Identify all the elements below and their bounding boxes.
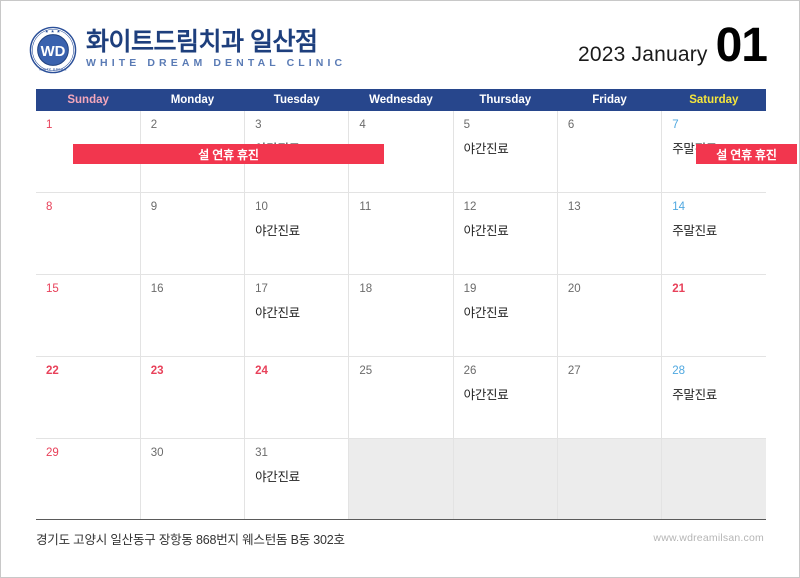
calendar-cell-day-29[interactable]: 29	[36, 439, 140, 521]
calendar-cell-day-27[interactable]: 27	[557, 357, 661, 439]
brand-name-english: WHITE DREAM DENTAL CLINIC	[86, 57, 346, 71]
calendar-cell-day-15[interactable]: 15	[36, 275, 140, 357]
calendar-grid: Sunday Monday Tuesday Wednesday Thursday…	[36, 89, 766, 520]
day-number: 28	[672, 365, 766, 378]
calendar-cell-inner: 3야간진료	[245, 111, 348, 192]
calendar-cell-inner: 4	[349, 111, 452, 192]
calendar-cell-day-1[interactable]: 1	[36, 111, 140, 193]
calendar-cell-inner: 27	[558, 357, 661, 438]
calendar-cell-inner: 13	[558, 193, 661, 274]
day-event-label: 주말진료	[672, 220, 766, 239]
calendar-cell-day-21[interactable]: 21	[662, 275, 766, 357]
calendar-cell-day-28[interactable]: 28주말진료	[662, 357, 766, 439]
calendar-cell-inner: 1	[36, 111, 140, 192]
calendar-cell-inner	[349, 439, 452, 520]
wd-seal-logo-icon: WD ★ ★ ★ WHITE DREAM	[29, 26, 77, 74]
calendar-cell-day-9[interactable]: 9	[140, 193, 244, 275]
calendar-cell-inner: 23	[141, 357, 244, 438]
calendar-cell-inner: 10야간진료	[245, 193, 348, 274]
calendar-cell-day-26[interactable]: 26야간진료	[453, 357, 557, 439]
day-number: 31	[255, 447, 348, 460]
calendar-cell-day-16[interactable]: 16	[140, 275, 244, 357]
calendar-cell-day-19[interactable]: 19야간진료	[453, 275, 557, 357]
calendar-cell-inner: 8	[36, 193, 140, 274]
day-number: 23	[151, 365, 244, 378]
day-number: 13	[568, 201, 661, 214]
calendar-cell-empty	[662, 439, 766, 521]
calendar-cell-inner: 7주말진료	[662, 111, 766, 192]
calendar-cell-inner: 19야간진료	[454, 275, 557, 356]
calendar-cell-day-6[interactable]: 6	[557, 111, 661, 193]
svg-text:WD: WD	[41, 44, 66, 60]
day-event-label: 야간진료	[464, 220, 557, 239]
day-number: 17	[255, 283, 348, 296]
calendar-cell-day-13[interactable]: 13	[557, 193, 661, 275]
day-number: 19	[464, 283, 557, 296]
weekday-row: Sunday Monday Tuesday Wednesday Thursday…	[36, 89, 766, 111]
day-number: 22	[46, 365, 140, 378]
footer-divider	[36, 519, 766, 520]
calendar-cell-day-3[interactable]: 3야간진료	[245, 111, 349, 193]
day-number: 24	[255, 365, 348, 378]
day-number: 1	[46, 119, 140, 132]
day-number: 20	[568, 283, 661, 296]
clinic-address: 경기도 고양시 일산동구 장항동 868번지 웨스턴돔 B동 302호	[36, 529, 345, 548]
calendar-cell-inner: 24	[245, 357, 348, 438]
calendar-cell-inner: 11	[349, 193, 452, 274]
day-event-label: 야간진료	[464, 138, 557, 157]
calendar-cell-inner	[558, 439, 661, 520]
calendar-cell-inner: 22	[36, 357, 140, 438]
calendar-cell-day-18[interactable]: 18	[349, 275, 453, 357]
svg-text:WHITE DREAM: WHITE DREAM	[39, 68, 67, 72]
calendar-cell-day-30[interactable]: 30	[140, 439, 244, 521]
calendar-cell-inner: 18	[349, 275, 452, 356]
calendar-cell-inner: 28주말진료	[662, 357, 766, 438]
calendar-cell-day-5[interactable]: 5야간진료	[453, 111, 557, 193]
day-number: 12	[464, 201, 557, 214]
calendar-cell-inner: 6	[558, 111, 661, 192]
calendar-body: 123야간진료45야간진료67주말진료8910야간진료1112야간진료1314주…	[36, 111, 766, 520]
weekday-sunday: Sunday	[36, 89, 140, 111]
calendar-cell-day-23[interactable]: 23	[140, 357, 244, 439]
day-number: 18	[359, 283, 452, 296]
day-number: 29	[46, 447, 140, 460]
calendar-cell-day-31[interactable]: 31야간진료	[245, 439, 349, 521]
day-number: 30	[151, 447, 244, 460]
calendar-cell-empty	[349, 439, 453, 521]
day-number: 8	[46, 201, 140, 214]
day-number: 27	[568, 365, 661, 378]
clinic-website: www.wdreamilsan.com	[653, 532, 764, 544]
day-event-label: 야간진료	[255, 466, 348, 485]
calendar-cell-day-4[interactable]: 4	[349, 111, 453, 193]
brand-name-korean: 화이트드림치과 일산점	[86, 29, 346, 55]
calendar-cell-day-20[interactable]: 20	[557, 275, 661, 357]
calendar-cell-empty	[453, 439, 557, 521]
calendar-cell-day-11[interactable]: 11	[349, 193, 453, 275]
calendar-cell-inner: 5야간진료	[454, 111, 557, 192]
calendar-cell-inner	[454, 439, 557, 520]
day-event-label: 주말진료	[672, 384, 766, 403]
calendar-cell-inner: 12야간진료	[454, 193, 557, 274]
day-number: 16	[151, 283, 244, 296]
brand-text: 화이트드림치과 일산점 WHITE DREAM DENTAL CLINIC	[86, 29, 346, 71]
calendar-cell-day-2[interactable]: 2	[140, 111, 244, 193]
calendar-cell-day-25[interactable]: 25	[349, 357, 453, 439]
calendar-cell-empty	[557, 439, 661, 521]
day-number: 2	[151, 119, 244, 132]
day-number: 11	[359, 201, 452, 214]
calendar-week-row: 2223242526야간진료2728주말진료	[36, 357, 766, 439]
weekday-tuesday: Tuesday	[245, 89, 349, 111]
calendar-cell-inner	[662, 439, 766, 520]
calendar-cell-inner: 17야간진료	[245, 275, 348, 356]
svg-text:★ ★ ★: ★ ★ ★	[44, 30, 61, 34]
weekday-wednesday: Wednesday	[349, 89, 453, 111]
day-number: 4	[359, 119, 452, 132]
calendar-cell-inner: 16	[141, 275, 244, 356]
calendar-cell-day-10[interactable]: 10야간진료	[245, 193, 349, 275]
day-number: 15	[46, 283, 140, 296]
calendar-weekday-header: Sunday Monday Tuesday Wednesday Thursday…	[36, 89, 766, 111]
weekday-monday: Monday	[140, 89, 244, 111]
day-number: 10	[255, 201, 348, 214]
page-header: WD ★ ★ ★ WHITE DREAM 화이트드림치과 일산점 WHITE D…	[1, 1, 800, 89]
weekday-thursday: Thursday	[453, 89, 557, 111]
calendar-week-row: 151617야간진료1819야간진료2021	[36, 275, 766, 357]
calendar-page: WD ★ ★ ★ WHITE DREAM 화이트드림치과 일산점 WHITE D…	[0, 0, 800, 578]
day-event-label: 주말진료	[672, 138, 766, 157]
calendar-cell-inner: 31야간진료	[245, 439, 348, 520]
calendar-cell-inner: 29	[36, 439, 140, 520]
calendar-cell-day-14[interactable]: 14주말진료	[662, 193, 766, 275]
calendar-cell-inner: 30	[141, 439, 244, 520]
day-number: 6	[568, 119, 661, 132]
weekday-friday: Friday	[557, 89, 661, 111]
day-event-label: 야간진료	[464, 302, 557, 321]
calendar-cell-inner: 25	[349, 357, 452, 438]
day-event-label: 야간진료	[255, 302, 348, 321]
calendar-cell-inner: 2	[141, 111, 244, 192]
calendar-cell-day-22[interactable]: 22	[36, 357, 140, 439]
calendar-cell-inner: 15	[36, 275, 140, 356]
calendar-cell-day-8[interactable]: 8	[36, 193, 140, 275]
day-number: 25	[359, 365, 452, 378]
calendar-week-row: 8910야간진료1112야간진료1314주말진료	[36, 193, 766, 275]
day-number: 21	[672, 283, 766, 296]
calendar-cell-day-24[interactable]: 24	[245, 357, 349, 439]
calendar-week-row: 123야간진료45야간진료67주말진료	[36, 111, 766, 193]
calendar-week-row: 293031야간진료	[36, 439, 766, 521]
day-number: 9	[151, 201, 244, 214]
day-number: 5	[464, 119, 557, 132]
calendar-cell-day-12[interactable]: 12야간진료	[453, 193, 557, 275]
day-event-label: 야간진료	[255, 220, 348, 239]
calendar-cell-day-7[interactable]: 7주말진료	[662, 111, 766, 193]
calendar-cell-day-17[interactable]: 17야간진료	[245, 275, 349, 357]
month-title-block: 2023 January 01	[578, 23, 767, 69]
day-number: 7	[672, 119, 766, 132]
year-month-label: 2023 January	[578, 43, 708, 67]
brand-block: WD ★ ★ ★ WHITE DREAM 화이트드림치과 일산점 WHITE D…	[29, 26, 346, 74]
calendar-cell-inner: 20	[558, 275, 661, 356]
day-event-label: 야간진료	[464, 384, 557, 403]
day-event-label: 야간진료	[255, 138, 348, 157]
weekday-saturday: Saturday	[662, 89, 766, 111]
calendar-cell-inner: 9	[141, 193, 244, 274]
calendar-cell-inner: 14주말진료	[662, 193, 766, 274]
day-number: 26	[464, 365, 557, 378]
calendar-cell-inner: 26야간진료	[454, 357, 557, 438]
month-number: 01	[716, 23, 767, 69]
calendar-cell-inner: 21	[662, 275, 766, 356]
day-number: 3	[255, 119, 348, 132]
day-number: 14	[672, 201, 766, 214]
